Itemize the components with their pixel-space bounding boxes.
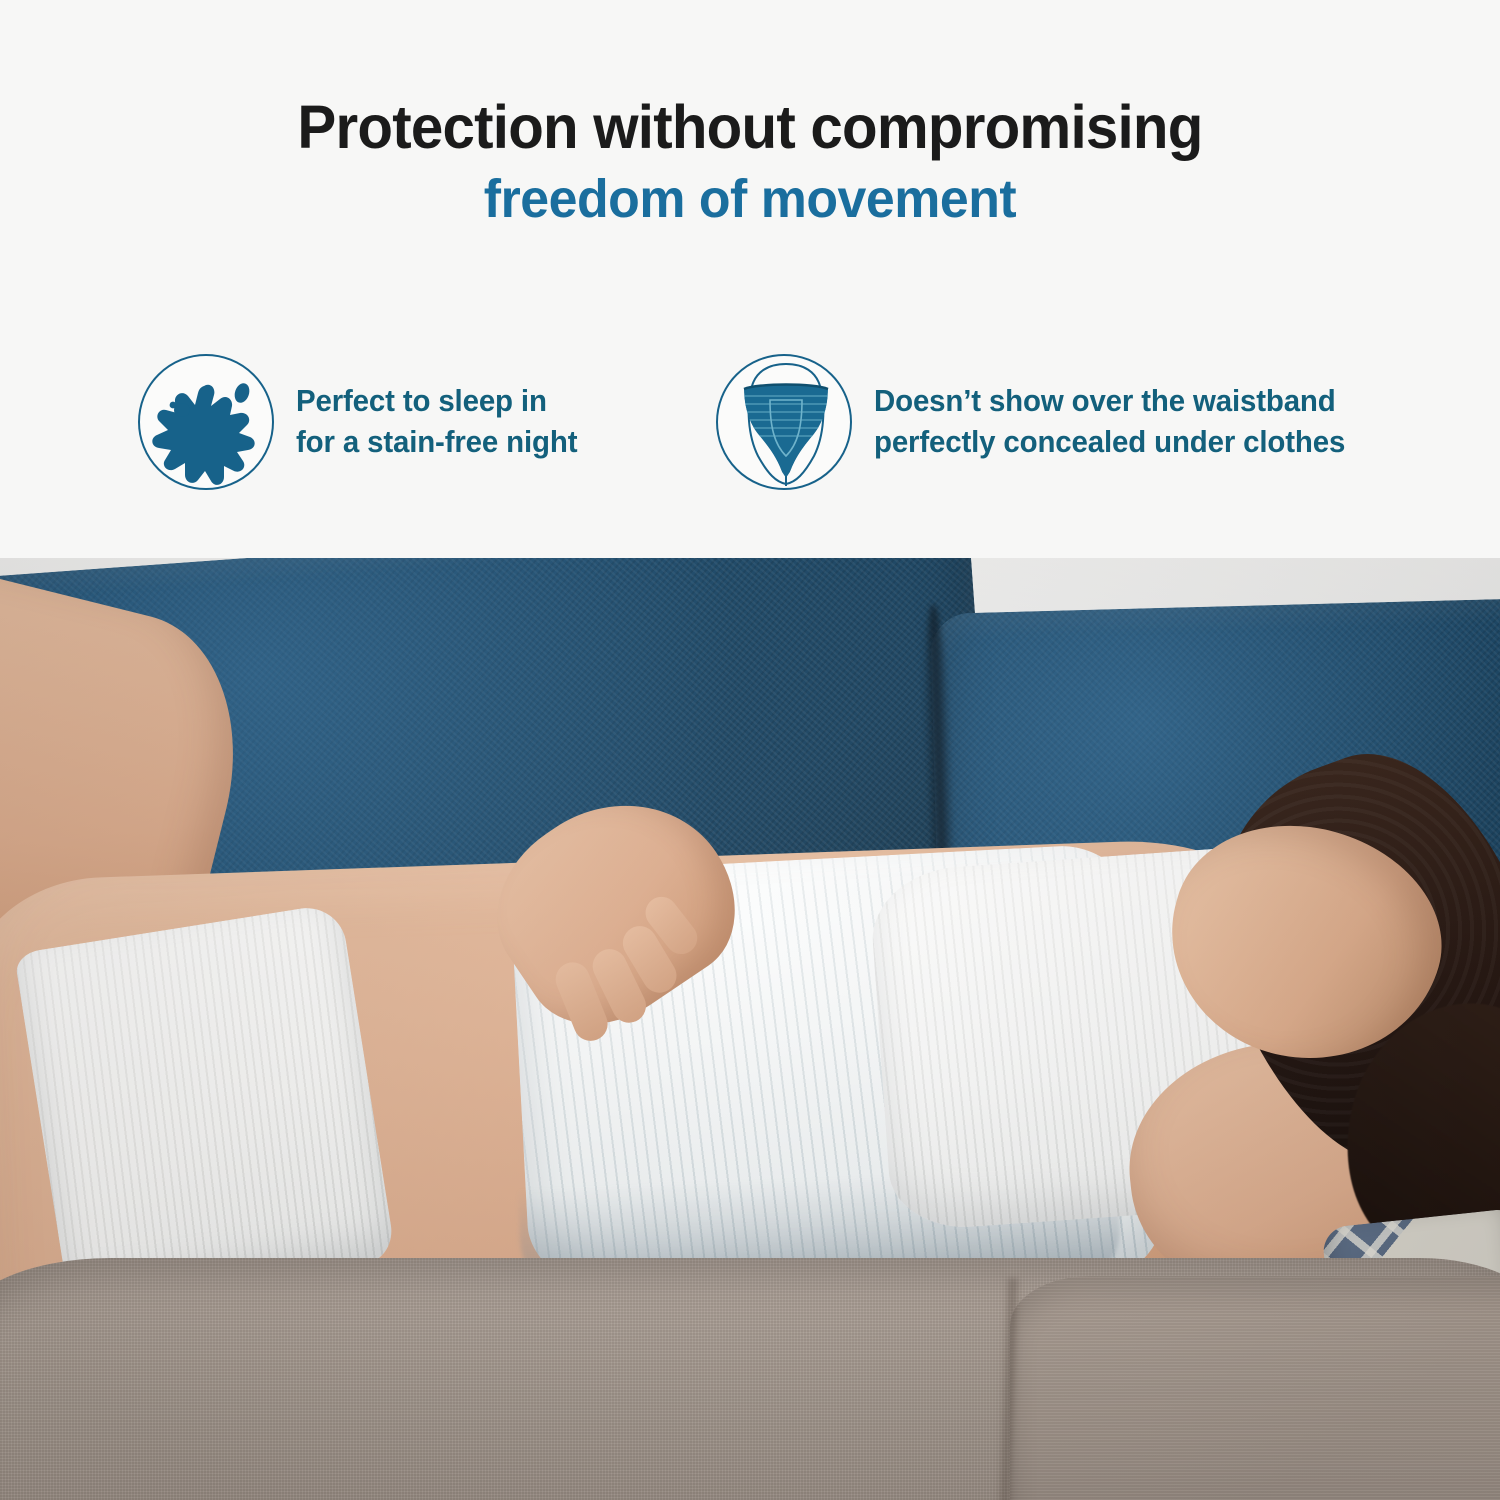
feature-2-line-2: perfectly concealed under clothes xyxy=(874,422,1345,463)
feature-1-line-1: Perfect to sleep in xyxy=(296,381,577,422)
sofa-seat-right xyxy=(1010,1276,1500,1500)
feature-2-line-1: Doesn’t show over the waistband xyxy=(874,381,1345,422)
headline-block: Protection without compromising freedom … xyxy=(0,96,1500,227)
product-brief-back-panel xyxy=(14,902,396,1309)
feature-1-line-2: for a stain-free night xyxy=(296,422,577,463)
underwear-brief-icon xyxy=(716,354,852,490)
feature-text-concealed: Doesn’t show over the waistband perfectl… xyxy=(874,381,1345,462)
feature-text-sleep: Perfect to sleep in for a stain-free nig… xyxy=(296,381,577,462)
feature-item-concealed: Doesn’t show over the waistband perfectl… xyxy=(716,354,1362,490)
headline-line-2: freedom of movement xyxy=(30,172,1470,227)
lifestyle-photo xyxy=(0,558,1500,1500)
feature-item-sleep: Perfect to sleep in for a stain-free nig… xyxy=(138,354,588,490)
feature-row: Perfect to sleep in for a stain-free nig… xyxy=(0,352,1500,497)
headline-line-1: Protection without compromising xyxy=(34,96,1467,158)
splash-stain-icon xyxy=(138,354,274,490)
promo-image-root: Protection without compromising freedom … xyxy=(0,0,1500,1500)
